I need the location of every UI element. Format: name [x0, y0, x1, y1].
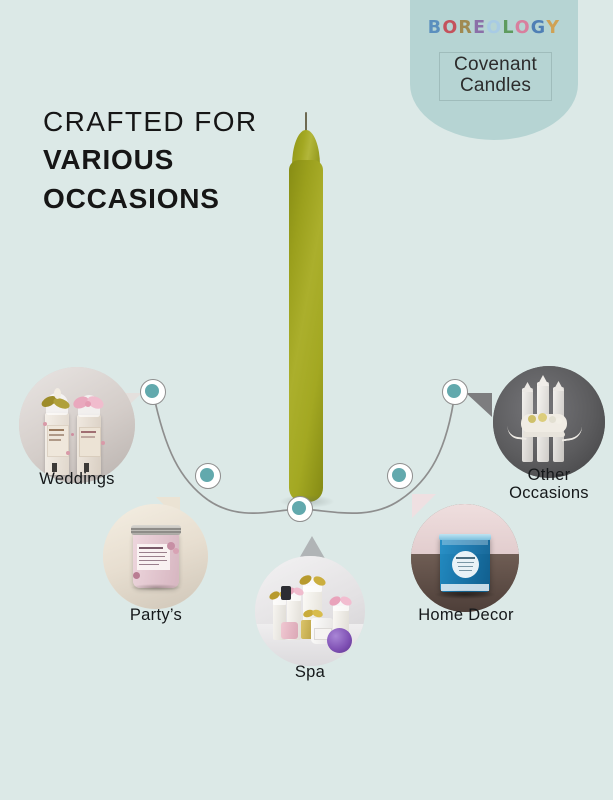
wordmark-letter: O	[486, 18, 502, 38]
hero-candle	[286, 112, 326, 502]
candle-body	[289, 160, 323, 502]
home-decor-photo[interactable]	[411, 504, 519, 612]
other-occasions-label-line-2: Occasions	[486, 484, 612, 502]
wordmark-letter: O	[515, 18, 531, 38]
wordmark-letter: Y	[546, 18, 560, 38]
connector-dot-5[interactable]	[442, 379, 468, 405]
headline-line-1: CRAFTED FOR	[43, 106, 258, 138]
other-occasions-label-line-1: Other	[486, 466, 612, 484]
weddings-photo[interactable]	[19, 367, 135, 483]
partys-scene	[103, 504, 208, 609]
home-decor-label: Home Decor	[400, 606, 532, 624]
brand-wordmark: BOREOLOGY	[410, 18, 578, 38]
other-occasions-bubble-tail	[466, 393, 492, 417]
page-headline: CRAFTED FOR VARIOUS OCCASIONS	[43, 106, 258, 215]
weddings-scene	[19, 367, 135, 483]
brand-tagline-line-1: Covenant	[440, 55, 551, 76]
headline-line-3: OCCASIONS	[43, 183, 258, 215]
brand-tagline-line-2: Candles	[440, 76, 551, 97]
home-decor-scene	[411, 504, 519, 612]
spa-photo[interactable]	[255, 556, 365, 666]
connector-dot-1[interactable]	[140, 379, 166, 405]
connector-dot-3[interactable]	[287, 496, 313, 522]
poster-canvas: BOREOLOGY Covenant Candles CRAFTED FOR V…	[0, 0, 613, 800]
weddings-label: Weddings	[9, 470, 145, 488]
wordmark-letter: R	[458, 18, 473, 38]
brand-logo-panel: BOREOLOGY Covenant Candles	[410, 0, 578, 140]
connector-dot-2[interactable]	[195, 463, 221, 489]
wordmark-letter: O	[442, 18, 458, 38]
wordmark-letter: G	[531, 18, 547, 38]
wordmark-letter: B	[428, 18, 443, 38]
other-occasions-scene	[493, 366, 605, 478]
headline-line-2: VARIOUS	[43, 144, 258, 176]
spa-scene	[255, 556, 365, 666]
wordmark-letter: E	[473, 18, 486, 38]
other-occasions-photo[interactable]	[493, 366, 605, 478]
partys-photo[interactable]	[103, 504, 208, 609]
spa-label: Spa	[250, 663, 370, 681]
connector-dot-4[interactable]	[387, 463, 413, 489]
brand-tagline-box: Covenant Candles	[439, 52, 552, 101]
wordmark-letter: L	[502, 18, 514, 38]
partys-label: Party’s	[95, 606, 217, 624]
other-occasions-label: Other Occasions	[486, 466, 612, 503]
